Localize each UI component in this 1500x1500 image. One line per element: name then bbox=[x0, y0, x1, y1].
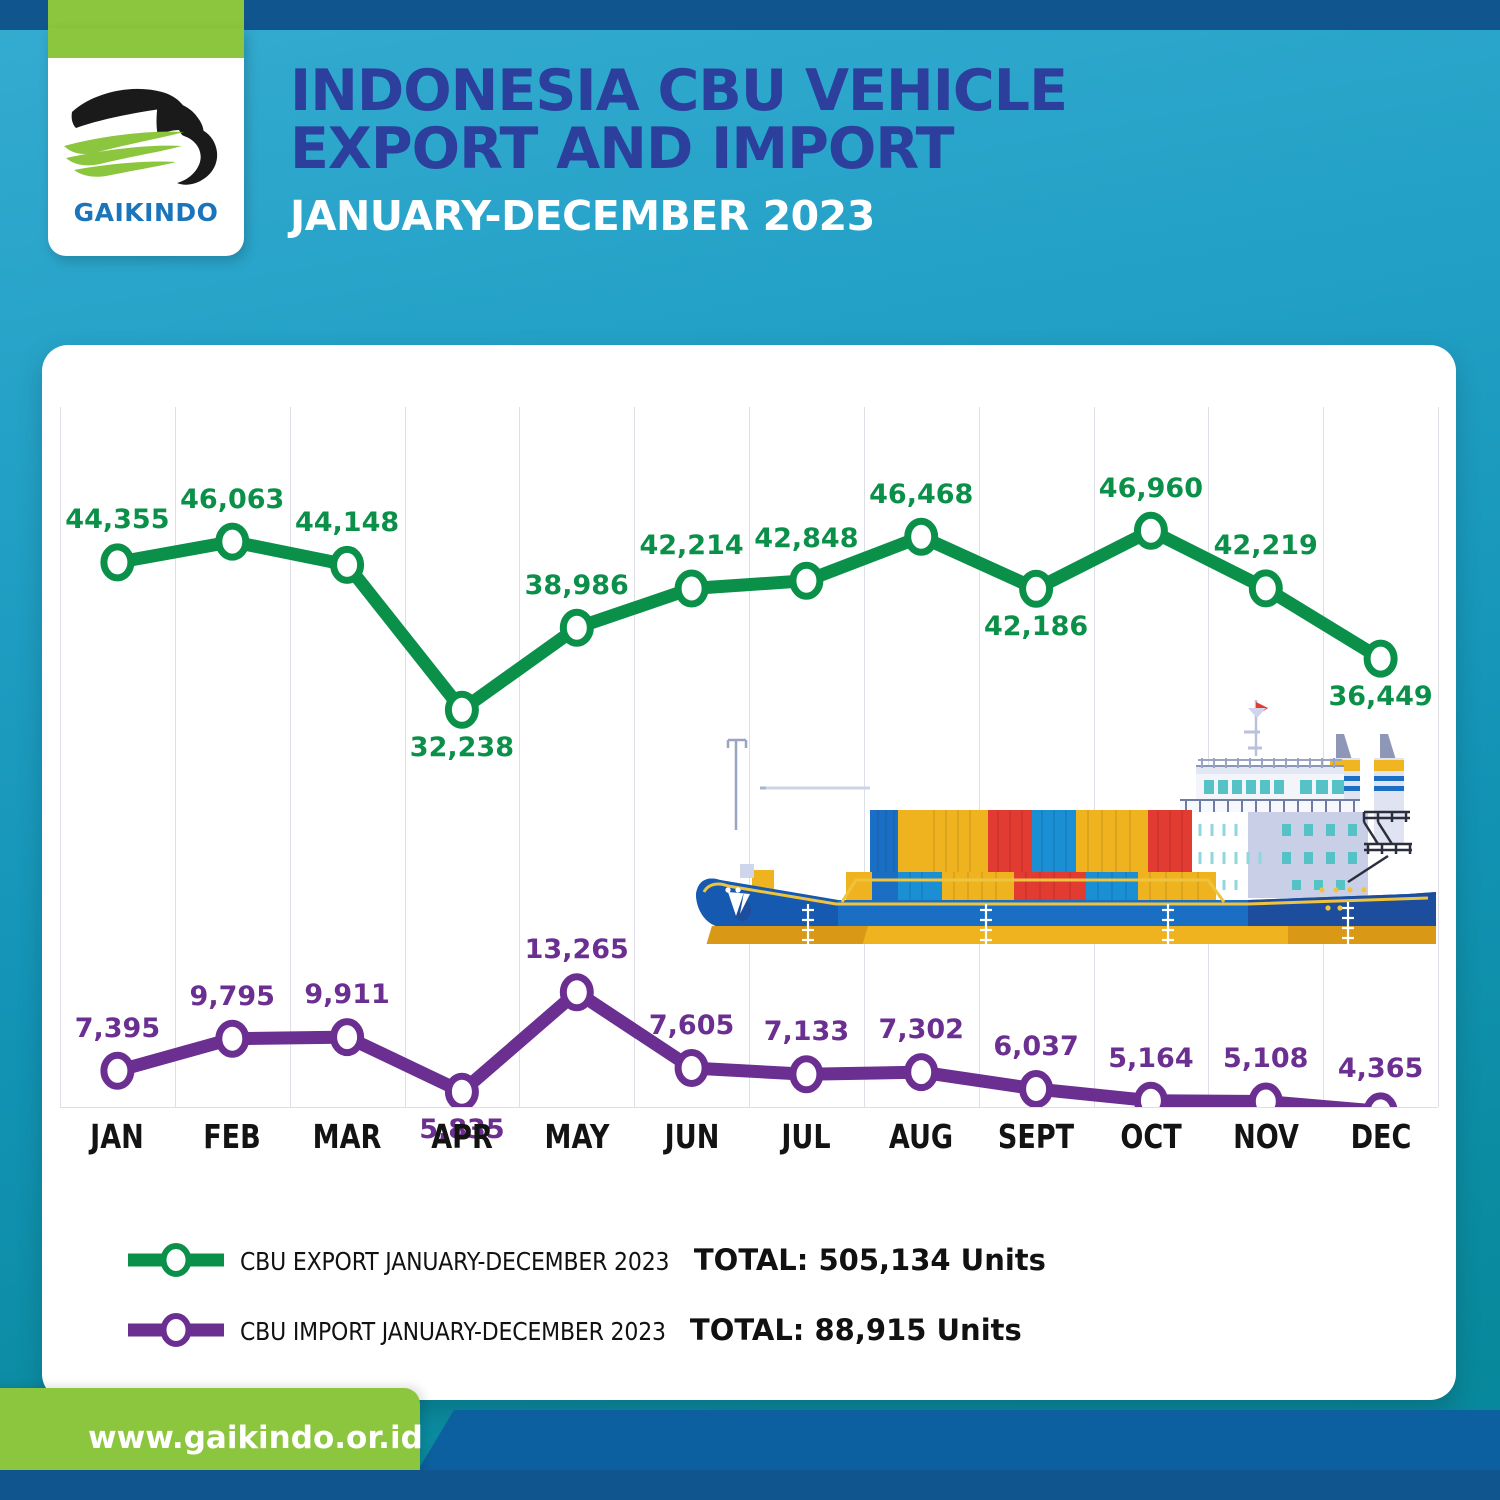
month-label-may: MAY bbox=[544, 1117, 609, 1156]
data-point-marker[interactable] bbox=[1137, 515, 1164, 546]
logo-wordmark: GAIKINDO bbox=[48, 198, 244, 227]
footer-website-url[interactable]: www.gaikindo.or.id bbox=[88, 1420, 423, 1456]
month-label-oct: OCT bbox=[1120, 1117, 1181, 1156]
data-label: 42,186 bbox=[984, 611, 1088, 642]
month-label-apr: APR bbox=[431, 1117, 493, 1156]
legend-item-export[interactable]: CBU EXPORT JANUARY-DECEMBER 2023 TOTAL: … bbox=[128, 1225, 1428, 1295]
legend-item-import[interactable]: CBU IMPORT JANUARY-DECEMBER 2023 TOTAL: … bbox=[128, 1295, 1428, 1365]
month-label-sept: SEPT bbox=[998, 1117, 1074, 1156]
logo-green-tab bbox=[48, 0, 244, 30]
infographic-root: GAIKINDO INDONESIA CBU VEHICLE EXPORT AN… bbox=[0, 0, 1500, 1500]
data-label: 42,219 bbox=[1214, 530, 1318, 561]
data-label: 7,395 bbox=[75, 1013, 160, 1044]
chart-legend: CBU EXPORT JANUARY-DECEMBER 2023 TOTAL: … bbox=[128, 1225, 1428, 1365]
month-label-aug: AUG bbox=[889, 1117, 953, 1156]
footer-accent-bar bbox=[0, 1470, 1500, 1500]
data-label: 5,164 bbox=[1108, 1043, 1193, 1074]
legend-total-export: TOTAL: 505,134 Units bbox=[694, 1243, 1046, 1277]
data-label: 7,133 bbox=[764, 1016, 849, 1047]
data-point-marker[interactable] bbox=[1252, 1086, 1279, 1107]
gaikindo-logo-card: GAIKINDO bbox=[48, 28, 244, 256]
chart-card: 44,35546,06344,14832,23838,98642,21442,8… bbox=[42, 345, 1456, 1400]
data-label: 44,355 bbox=[65, 504, 169, 535]
data-point-marker[interactable] bbox=[104, 1055, 131, 1086]
data-label: 42,848 bbox=[754, 523, 858, 554]
data-label: 5,108 bbox=[1223, 1043, 1308, 1074]
data-point-marker[interactable] bbox=[219, 1023, 246, 1054]
data-point-marker[interactable] bbox=[1137, 1085, 1164, 1107]
data-point-marker[interactable] bbox=[1023, 1074, 1050, 1105]
data-point-marker[interactable] bbox=[1367, 1096, 1394, 1107]
page-title-line2: EXPORT AND IMPORT bbox=[290, 120, 1390, 178]
month-label-nov: NOV bbox=[1233, 1117, 1299, 1156]
data-point-marker[interactable] bbox=[793, 565, 820, 596]
series-line-export bbox=[117, 531, 1380, 710]
data-point-marker[interactable] bbox=[908, 521, 935, 552]
header-title-block: INDONESIA CBU VEHICLE EXPORT AND IMPORT … bbox=[290, 62, 1390, 242]
data-label: 44,148 bbox=[295, 507, 399, 538]
data-point-marker[interactable] bbox=[334, 1022, 361, 1053]
data-label: 32,238 bbox=[410, 732, 514, 763]
data-label: 7,302 bbox=[879, 1014, 964, 1045]
data-point-marker[interactable] bbox=[1367, 643, 1394, 674]
month-label-jul: JUL bbox=[782, 1117, 831, 1156]
data-point-marker[interactable] bbox=[219, 526, 246, 557]
data-point-marker[interactable] bbox=[1023, 573, 1050, 604]
data-point-marker[interactable] bbox=[908, 1057, 935, 1088]
data-label: 9,911 bbox=[304, 979, 389, 1010]
data-label: 6,037 bbox=[993, 1031, 1078, 1062]
logo-green-bar bbox=[48, 28, 244, 58]
data-label: 38,986 bbox=[525, 570, 629, 601]
data-point-marker[interactable] bbox=[563, 612, 590, 643]
data-point-marker[interactable] bbox=[334, 549, 361, 580]
axis-baseline bbox=[60, 1107, 1438, 1108]
month-label-mar: MAR bbox=[313, 1117, 382, 1156]
legend-label-export: CBU EXPORT JANUARY-DECEMBER 2023 bbox=[240, 1247, 669, 1276]
x-axis-month-labels: JANFEBMARAPRMAYJUNJULAUGSEPTOCTNOVDEC bbox=[60, 1117, 1438, 1167]
legend-label-import: CBU IMPORT JANUARY-DECEMBER 2023 bbox=[240, 1317, 666, 1346]
month-label-jan: JAN bbox=[91, 1117, 145, 1156]
page-subtitle: JANUARY-DECEMBER 2023 bbox=[290, 190, 1390, 242]
data-label: 46,960 bbox=[1099, 473, 1203, 504]
chart-plot-area: 44,35546,06344,14832,23838,98642,21442,8… bbox=[60, 407, 1438, 1107]
data-point-marker[interactable] bbox=[448, 694, 475, 725]
data-label: 4,365 bbox=[1338, 1053, 1423, 1084]
footer-blue-shape bbox=[418, 1410, 1500, 1470]
gaikindo-car-logo-icon bbox=[58, 68, 234, 200]
data-point-marker[interactable] bbox=[678, 1053, 705, 1084]
month-label-dec: DEC bbox=[1350, 1117, 1411, 1156]
data-point-marker[interactable] bbox=[678, 573, 705, 604]
data-label: 7,605 bbox=[649, 1010, 734, 1041]
legend-total-import: TOTAL: 88,915 Units bbox=[690, 1313, 1022, 1347]
page-title-line1: INDONESIA CBU VEHICLE bbox=[290, 62, 1390, 120]
data-label: 9,795 bbox=[190, 981, 275, 1012]
data-label: 42,214 bbox=[639, 530, 743, 561]
data-label: 13,265 bbox=[525, 934, 629, 965]
month-label-feb: FEB bbox=[203, 1117, 261, 1156]
purple-line-marker-icon bbox=[128, 1313, 224, 1347]
data-label: 46,063 bbox=[180, 484, 284, 515]
data-point-marker[interactable] bbox=[104, 547, 131, 578]
data-point-marker[interactable] bbox=[448, 1076, 475, 1107]
data-point-marker[interactable] bbox=[793, 1059, 820, 1090]
data-point-marker[interactable] bbox=[1252, 573, 1279, 604]
month-label-jun: JUN bbox=[664, 1117, 719, 1156]
green-line-marker-icon bbox=[128, 1243, 224, 1277]
data-label: 36,449 bbox=[1328, 681, 1432, 712]
data-point-marker[interactable] bbox=[563, 977, 590, 1008]
data-label: 46,468 bbox=[869, 479, 973, 510]
